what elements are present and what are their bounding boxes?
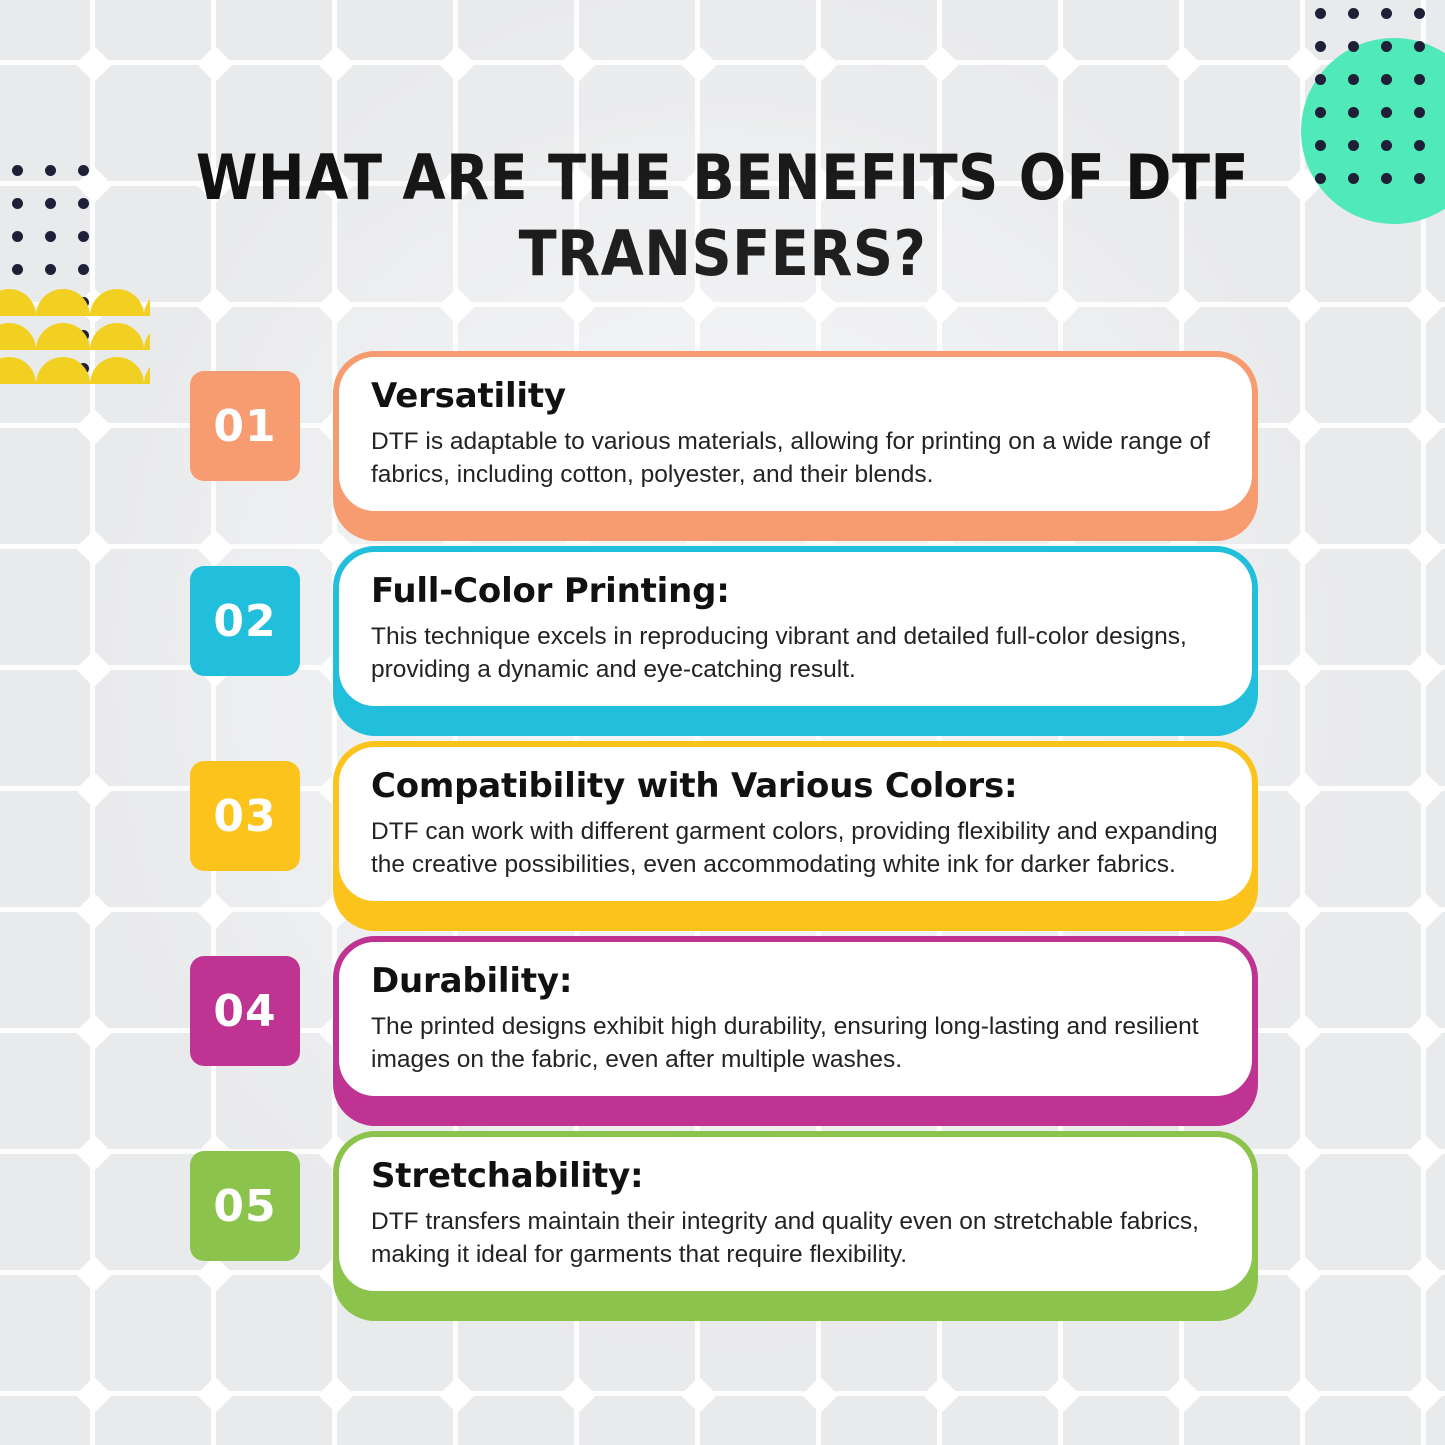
benefits-list: 01VersatilityDTF is adaptable to various… (0, 343, 1445, 1318)
benefit-number-badge[interactable]: 05 (190, 1151, 300, 1261)
benefit-body: This technique excels in reproducing vib… (371, 620, 1218, 686)
decorative-dot (45, 231, 56, 242)
benefit-row: 03Compatibility with Various Colors:DTF … (0, 733, 1445, 928)
page-title: WHAT ARE THE BENEFITS OF DTF TRANSFERS? (180, 140, 1265, 292)
benefit-number: 03 (213, 791, 276, 842)
decorative-dot (12, 264, 23, 275)
benefit-number: 01 (213, 401, 276, 452)
decorative-dot (1348, 41, 1359, 52)
decorative-dot (12, 231, 23, 242)
decorative-dot (1315, 41, 1326, 52)
decorative-dot (1348, 74, 1359, 85)
benefit-card[interactable]: Stretchability:DTF transfers maintain th… (333, 1131, 1258, 1297)
infographic-poster: WHAT ARE THE BENEFITS OF DTF TRANSFERS? … (0, 0, 1445, 1445)
decorative-dot (12, 165, 23, 176)
decorative-dot (78, 165, 89, 176)
decorative-dot (1414, 107, 1425, 118)
decorative-dot (1414, 8, 1425, 19)
benefit-row: 01VersatilityDTF is adaptable to various… (0, 343, 1445, 538)
decorative-dot (45, 264, 56, 275)
benefit-heading: Compatibility with Various Colors: (371, 765, 1218, 807)
decorative-dot (45, 198, 56, 209)
decorative-dot (1381, 41, 1392, 52)
decorative-dot (1381, 173, 1392, 184)
decorative-dot (12, 198, 23, 209)
decorative-dot (1348, 8, 1359, 19)
benefit-number-badge[interactable]: 02 (190, 566, 300, 676)
benefit-number-badge[interactable]: 01 (190, 371, 300, 481)
yellow-semicircle (0, 289, 36, 316)
benefit-card[interactable]: Full-Color Printing:This technique excel… (333, 546, 1258, 712)
decorative-dot (1315, 140, 1326, 151)
decorative-dot (78, 198, 89, 209)
decorative-dot (1381, 8, 1392, 19)
benefit-row: 05Stretchability:DTF transfers maintain … (0, 1123, 1445, 1318)
benefit-body: DTF transfers maintain their integrity a… (371, 1205, 1218, 1271)
decorative-dot (1315, 107, 1326, 118)
benefit-body: DTF is adaptable to various materials, a… (371, 425, 1218, 491)
benefit-number: 05 (213, 1181, 276, 1232)
decorative-dot (1348, 140, 1359, 151)
decorative-dot (1414, 173, 1425, 184)
decorative-dot (1315, 74, 1326, 85)
dot-grid-top-right (1315, 8, 1437, 178)
yellow-semicircle (90, 289, 144, 316)
decorative-dot (1414, 74, 1425, 85)
decorative-dot (1381, 74, 1392, 85)
decorative-dot (78, 231, 89, 242)
benefit-number-badge[interactable]: 04 (190, 956, 300, 1066)
benefit-body: DTF can work with different garment colo… (371, 815, 1218, 881)
benefit-row: 04Durability:The printed designs exhibit… (0, 928, 1445, 1123)
benefit-heading: Full-Color Printing: (371, 570, 1218, 612)
decorative-dot (45, 165, 56, 176)
decorative-dot (1348, 107, 1359, 118)
benefit-row: 02Full-Color Printing:This technique exc… (0, 538, 1445, 733)
yellow-semicircle (36, 289, 90, 316)
benefit-number: 04 (213, 986, 276, 1037)
decorative-dot (1348, 173, 1359, 184)
benefit-heading: Stretchability: (371, 1155, 1218, 1197)
benefit-card[interactable]: Compatibility with Various Colors:DTF ca… (333, 741, 1258, 907)
decorative-dot (1315, 173, 1326, 184)
benefit-body: The printed designs exhibit high durabil… (371, 1010, 1218, 1076)
decorative-dot (1381, 107, 1392, 118)
decorative-dot (78, 264, 89, 275)
benefit-number: 02 (213, 596, 276, 647)
benefit-card[interactable]: Durability:The printed designs exhibit h… (333, 936, 1258, 1102)
yellow-semicircle (144, 289, 150, 316)
decorative-dot (1414, 140, 1425, 151)
benefit-heading: Versatility (371, 375, 1218, 417)
benefit-card[interactable]: VersatilityDTF is adaptable to various m… (333, 351, 1258, 517)
benefit-number-badge[interactable]: 03 (190, 761, 300, 871)
decorative-dot (1414, 41, 1425, 52)
decorative-dot (1315, 8, 1326, 19)
benefit-heading: Durability: (371, 960, 1218, 1002)
decorative-dot (1381, 140, 1392, 151)
